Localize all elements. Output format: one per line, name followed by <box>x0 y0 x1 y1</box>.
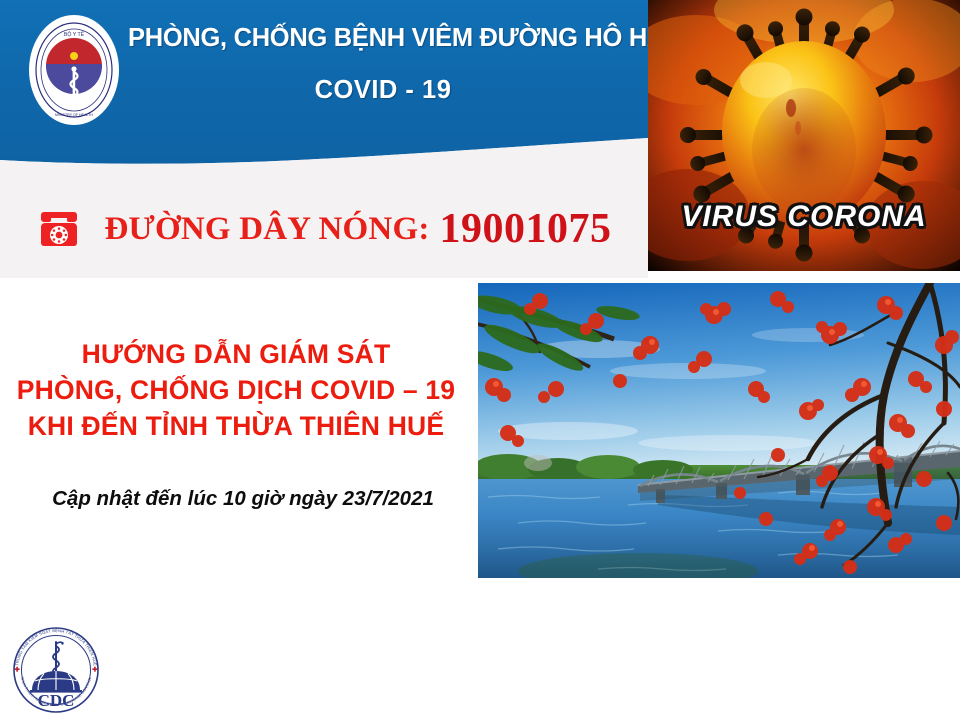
hue-truong-tien-bridge-photo <box>478 283 960 578</box>
bo-y-te-logo: BỘ Y TẾ MINISTRY OF HEALTH <box>28 14 120 126</box>
page-title-line-3: KHI ĐẾN TỈNH THỪA THIÊN HUẾ <box>0 408 472 444</box>
moh-ring-text-bottom: MINISTRY OF HEALTH <box>55 113 93 117</box>
thua-thien-hue-cdc-logo: TRUNG TÂM KIỂM SOÁT BỆNH TẬT THỪA THIÊN … <box>6 620 106 716</box>
banner-headline-line-1: PHÒNG, CHỐNG BỆNH VIÊM ĐƯỜNG HÔ HẤP CẤP <box>128 24 638 52</box>
page-title-line-1: HƯỚNG DẪN GIÁM SÁT <box>0 336 472 372</box>
page-title: HƯỚNG DẪN GIÁM SÁT PHÒNG, CHỐNG DỊCH COV… <box>0 336 472 444</box>
update-timestamp: Cập nhật đến lúc 10 giờ ngày 23/7/2021 <box>14 487 472 511</box>
virus-corona-photo: VIRUS CORONA <box>648 0 960 271</box>
virus-corona-caption: VIRUS CORONA <box>648 200 960 234</box>
hotline-number[interactable]: 19001075 <box>440 205 612 253</box>
banner-headline: PHÒNG, CHỐNG BỆNH VIÊM ĐƯỜNG HÔ HẤP CẤP … <box>128 24 638 105</box>
telephone-icon <box>36 206 82 252</box>
cdc-acronym: CDC <box>38 691 75 710</box>
moh-ring-text-top: BỘ Y TẾ <box>64 31 85 38</box>
hotline-row: ĐƯỜNG DÂY NÓNG: 19001075 <box>0 196 648 262</box>
page-title-line-2: PHÒNG, CHỐNG DỊCH COVID – 19 <box>0 372 472 408</box>
banner-headline-line-2: COVID - 19 <box>128 76 638 105</box>
hotline-label: ĐƯỜNG DÂY NÓNG: <box>104 211 429 248</box>
